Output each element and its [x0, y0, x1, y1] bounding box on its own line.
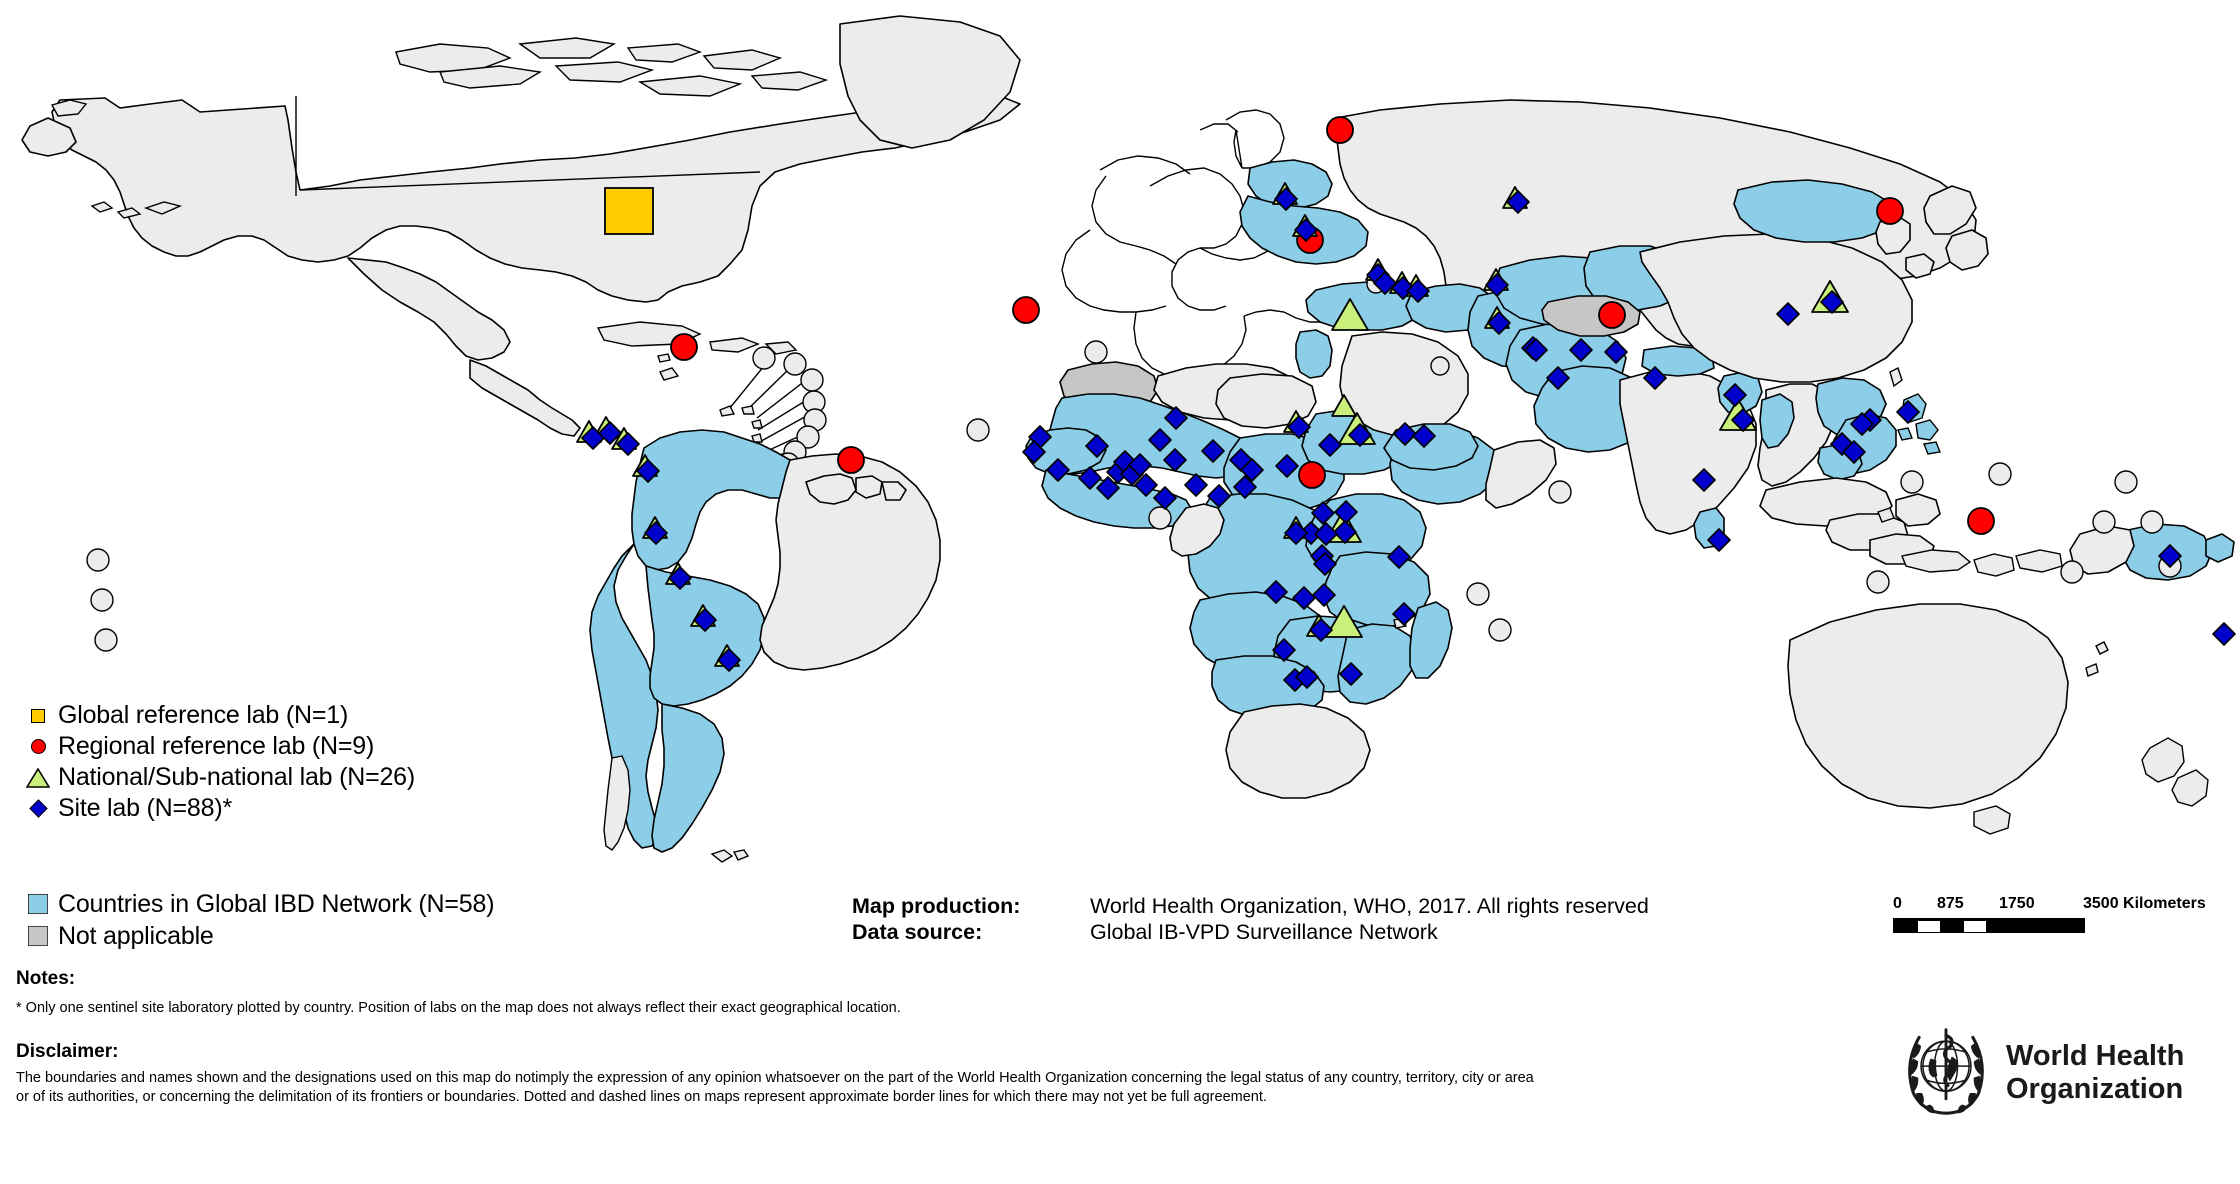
notes-heading: Notes: — [16, 968, 1816, 990]
who-wordmark: World Health Organization — [2006, 1040, 2184, 1106]
disclaimer-line-2: or of its authorities, or concerning the… — [16, 1088, 1816, 1107]
notes-body: * Only one sentinel site laboratory plot… — [16, 999, 1816, 1018]
symbol-legend: Global reference lab (N=1) Regional refe… — [18, 700, 638, 824]
legend-item-site-lab: Site lab (N=88)* — [18, 793, 638, 824]
yellow-square-icon — [18, 709, 58, 723]
credit-row-map-production: Map production: World Health Organizatio… — [852, 893, 1649, 919]
who-emblem-icon — [1898, 1022, 1994, 1123]
legend-label-regional-reference-lab: Regional reference lab (N=9) — [58, 734, 374, 759]
legend-item-global-reference-lab: Global reference lab (N=1) — [18, 700, 638, 731]
who-logo: World Health Organization — [1898, 1022, 2184, 1123]
scale-segment-gap-2 — [1964, 921, 1986, 932]
scale-bar: 0 875 1750 3500 Kilometers — [1893, 895, 2193, 933]
green-triangle-icon — [18, 768, 58, 788]
legend-item-national-lab: National/Sub-national lab (N=26) — [18, 762, 638, 793]
scale-tick-0: 0 — [1893, 895, 1902, 913]
scale-tick-3500: 3500 Kilometers — [2083, 895, 2206, 913]
credit-value-map-production: World Health Organization, WHO, 2017. Al… — [1090, 893, 1649, 919]
disclaimer-heading: Disclaimer: — [16, 1041, 1816, 1063]
area-legend: Countries in Global IBD Network (N=58) N… — [18, 888, 718, 952]
scale-tick-875: 875 — [1937, 895, 1964, 913]
scale-bar-graphic — [1893, 918, 2085, 933]
scale-segment-gap-1 — [1918, 921, 1940, 932]
legend-item-regional-reference-lab: Regional reference lab (N=9) — [18, 731, 638, 762]
disclaimer-line-1: The boundaries and names shown and the d… — [16, 1069, 1816, 1088]
credit-key-map-production: Map production: — [852, 893, 1090, 919]
red-circle-icon — [18, 739, 58, 754]
who-wordmark-line-1: World Health — [2006, 1040, 2184, 1073]
legend-item-network-countries: Countries in Global IBD Network (N=58) — [18, 888, 718, 920]
legend-label-national-lab: National/Sub-national lab (N=26) — [58, 765, 415, 790]
credit-key-data-source: Data source: — [852, 919, 1090, 945]
legend-label-site-lab: Site lab (N=88)* — [58, 796, 232, 821]
scale-tick-1750: 1750 — [1999, 895, 2035, 913]
blue-swatch-icon — [18, 894, 58, 914]
legend-label-network-countries: Countries in Global IBD Network (N=58) — [58, 892, 494, 917]
notes-and-disclaimer: Notes: * Only one sentinel site laborato… — [16, 968, 1816, 1107]
blue-diamond-icon — [18, 802, 58, 815]
who-wordmark-line-2: Organization — [2006, 1073, 2184, 1106]
marker-global-reference-lab — [605, 188, 653, 234]
credit-row-data-source: Data source: Global IB-VPD Surveillance … — [852, 919, 1649, 945]
legend-item-not-applicable: Not applicable — [18, 920, 718, 952]
scale-bar-labels: 0 875 1750 3500 Kilometers — [1893, 895, 2193, 915]
credit-value-data-source: Global IB-VPD Surveillance Network — [1090, 919, 1438, 945]
map-credits: Map production: World Health Organizatio… — [852, 893, 1649, 945]
legend-label-global-reference-lab: Global reference lab (N=1) — [58, 703, 348, 728]
legend-label-not-applicable: Not applicable — [58, 924, 214, 949]
grey-swatch-icon — [18, 926, 58, 946]
